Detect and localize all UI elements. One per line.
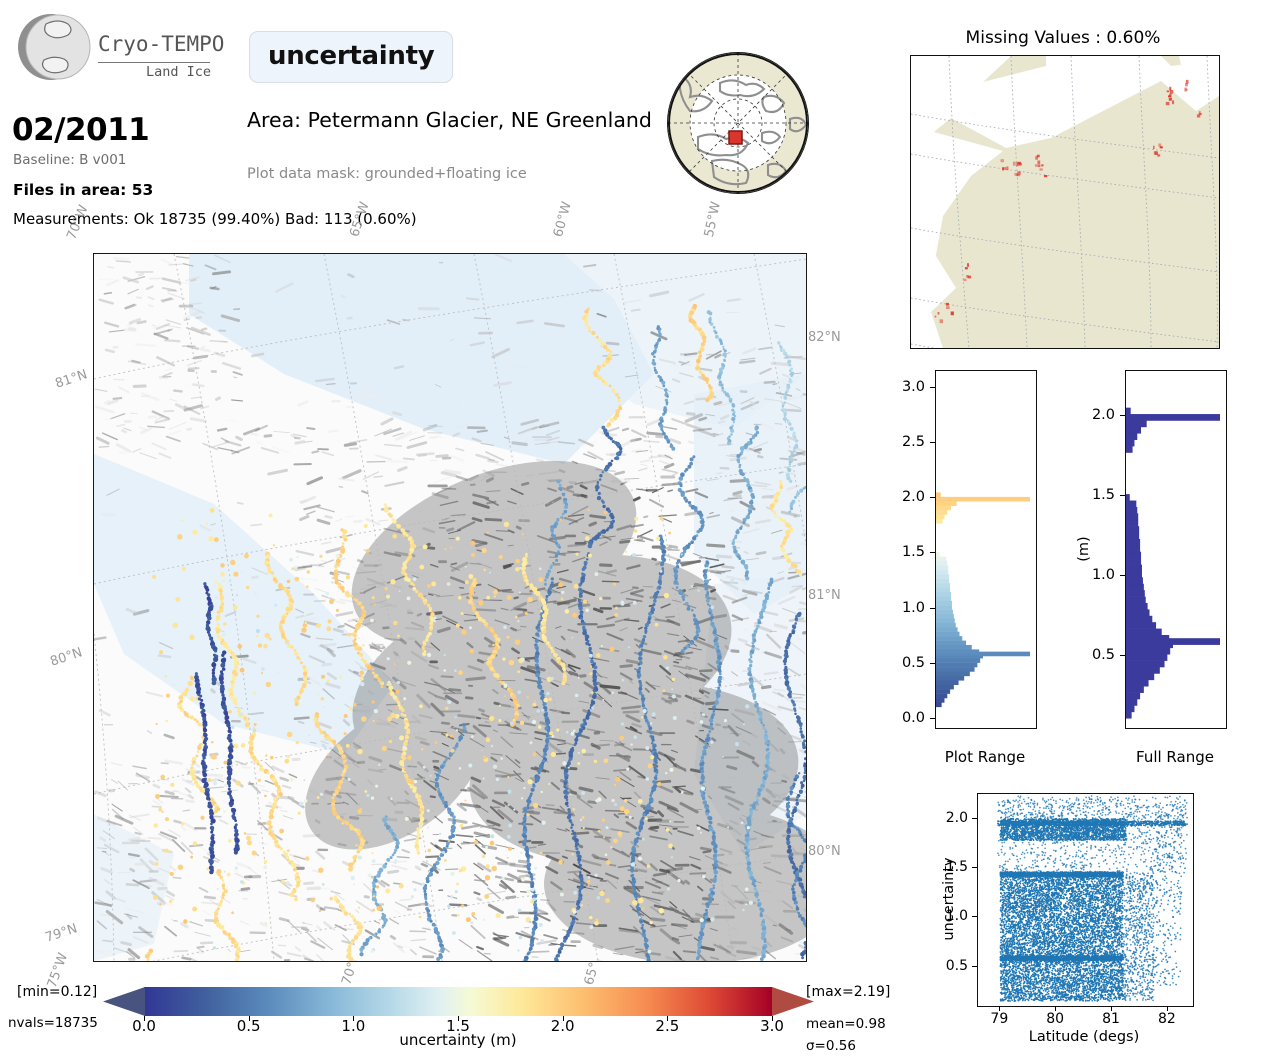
missing-values-map[interactable] xyxy=(910,55,1220,349)
colorbar-under-arrow xyxy=(103,987,145,1016)
hist-ytick-label: 1.0 xyxy=(873,600,925,616)
variable-title-badge: uncertainty xyxy=(249,31,453,83)
colorbar-tick-label: 3.0 xyxy=(760,1017,784,1035)
scatter-ytick-label: 2.0 xyxy=(920,810,968,826)
hist-tickmark xyxy=(930,387,935,388)
area-title: Area: Petermann Glacier, NE Greenland xyxy=(247,108,652,132)
missing-values-title: Missing Values : 0.60% xyxy=(966,28,1161,48)
hist-tickmark xyxy=(930,552,935,553)
plot-range-histogram[interactable] xyxy=(935,370,1037,729)
scatter-xtick-label: 81 xyxy=(1102,1011,1120,1027)
scatter-xlabel: Latitude (degs) xyxy=(1029,1029,1140,1045)
baseline-label: Baseline: B v001 xyxy=(13,152,126,168)
hist-ytick-label: 0.5 xyxy=(873,655,925,671)
scatter-xtick-label: 82 xyxy=(1158,1011,1176,1027)
full-range-ylabel: (m) xyxy=(1076,536,1092,561)
hist-tickmark xyxy=(930,497,935,498)
lat-label-right-81n: 81°N xyxy=(808,588,841,603)
plot-mask-label: Plot data mask: grounded+floating ice xyxy=(247,166,527,182)
logo-globe-icon xyxy=(14,8,94,86)
scatter-ytickmark xyxy=(972,867,977,868)
hist-tickmark xyxy=(930,608,935,609)
scatter-ytickmark xyxy=(972,818,977,819)
lon-label-top-60w: 60°W xyxy=(551,200,575,239)
colorbar-min-label: [min=0.12] xyxy=(17,984,97,1000)
hist-ytick-label: 0.5 xyxy=(1063,647,1115,663)
colorbar-tick-label: 1.5 xyxy=(446,1017,470,1035)
colorbar-ticks: 0.00.51.01.52.02.53.0 xyxy=(144,987,772,1037)
files-in-area-label: Files in area: 53 xyxy=(13,181,153,199)
colorbar-tick-label: 0.5 xyxy=(237,1017,261,1035)
logo-wordmark: Cryo-TEMPO xyxy=(98,32,224,56)
scatter-ytick-label: 0.5 xyxy=(920,958,968,974)
colorbar-mean-label: mean=0.98 xyxy=(806,1016,886,1032)
hist-ytick-label: 1.0 xyxy=(1063,567,1115,583)
colorbar-nvals-label: nvals=18735 xyxy=(8,1015,98,1031)
hist-ytick-label: 0.0 xyxy=(873,710,925,726)
hist-ytick-label: 1.5 xyxy=(873,544,925,560)
polar-globe-inset xyxy=(667,52,809,194)
scatter-ytickmark xyxy=(972,966,977,967)
lat-label-left-79n: 79°N xyxy=(43,921,79,945)
colorbar-tick-label: 0.0 xyxy=(132,1017,156,1035)
uncertainty-latitude-scatter[interactable] xyxy=(977,793,1194,1007)
hist-ytick-label: 2.0 xyxy=(1063,407,1115,423)
scatter-ytickmark xyxy=(972,916,977,917)
hist-tickmark xyxy=(930,718,935,719)
logo-divider xyxy=(98,62,210,63)
colorbar-over-arrow xyxy=(772,987,814,1016)
scatter-xtick-label: 79 xyxy=(990,1011,1008,1027)
cryo-tempo-logo xyxy=(14,8,94,86)
colorbar-tick-label: 2.5 xyxy=(655,1017,679,1035)
full-range-caption: Full Range xyxy=(1136,748,1214,766)
hist-tickmark xyxy=(1120,655,1125,656)
colorbar-sigma-label: σ=0.56 xyxy=(806,1038,856,1054)
hist-ytick-label: 2.0 xyxy=(873,489,925,505)
globe-area-marker xyxy=(729,131,742,144)
hist-ytick-label: 2.5 xyxy=(873,434,925,450)
hist-tickmark xyxy=(1120,575,1125,576)
lat-label-right-82n: 82°N xyxy=(808,330,841,345)
colorbar-tick-label: 2.0 xyxy=(551,1017,575,1035)
scatter-ylabel: uncertainty xyxy=(941,857,957,940)
full-range-histogram[interactable] xyxy=(1125,370,1227,729)
colorbar-tick-label: 1.0 xyxy=(341,1017,365,1035)
hist-tickmark xyxy=(930,442,935,443)
lat-label-left-81n: 81°N xyxy=(53,367,89,391)
colorbar-max-label: [max=2.19] xyxy=(806,984,890,1000)
hist-ytick-label: 1.5 xyxy=(1063,487,1115,503)
hist-tickmark xyxy=(1120,415,1125,416)
date-label: 02/2011 xyxy=(12,112,149,148)
hist-ytick-label: 3.0 xyxy=(873,379,925,395)
logo-subtitle: Land Ice xyxy=(146,64,211,80)
lat-label-right-80n: 80°N xyxy=(808,844,841,859)
main-uncertainty-map[interactable] xyxy=(93,253,807,962)
lat-label-left-80n: 80°N xyxy=(48,645,84,669)
scatter-xtick-label: 80 xyxy=(1046,1011,1064,1027)
hist-tickmark xyxy=(1120,495,1125,496)
hist-tickmark xyxy=(930,663,935,664)
plot-range-caption: Plot Range xyxy=(945,748,1026,766)
lon-label-top-55w: 55°W xyxy=(702,200,724,238)
